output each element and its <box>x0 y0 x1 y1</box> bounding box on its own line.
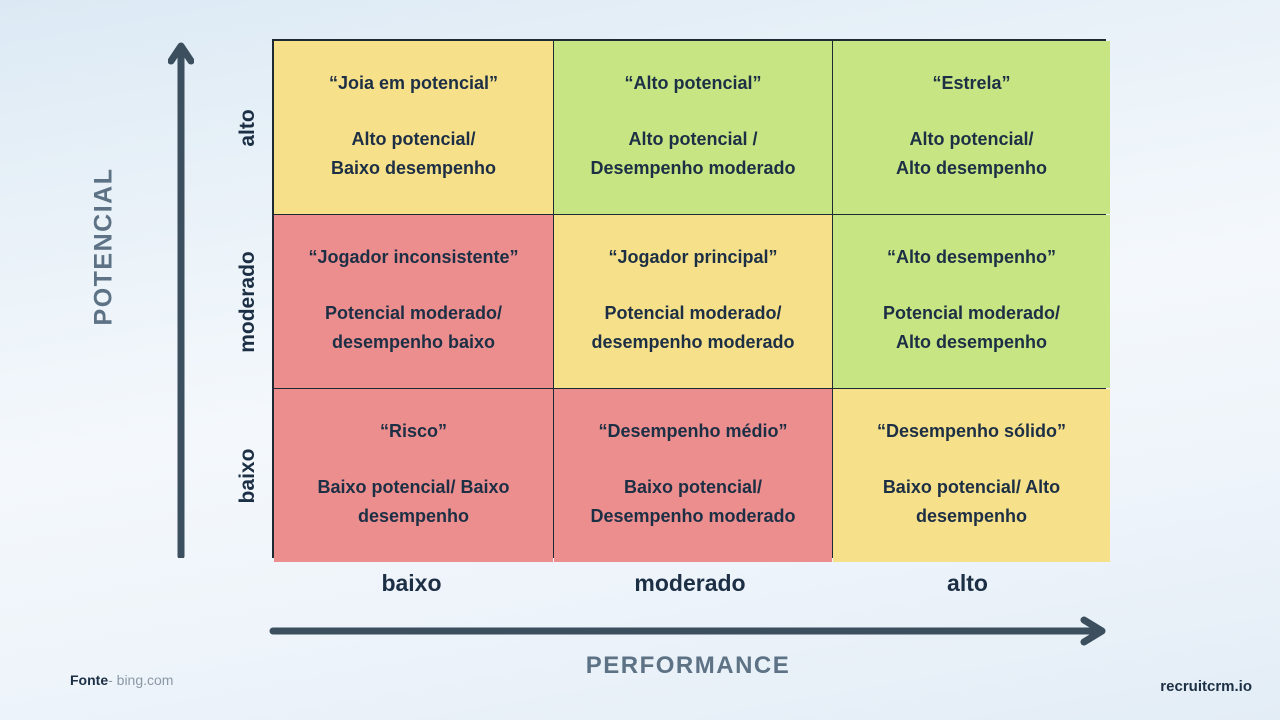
cell-estrela[interactable]: “Estrela” Alto potencial/ Alto desempenh… <box>833 41 1110 214</box>
cell-subtitle: Alto potencial/ Alto desempenho <box>896 125 1047 183</box>
x-axis-title: PERFORMANCE <box>268 652 1108 680</box>
y-tick-alto: alto <box>236 48 260 208</box>
cell-title: “Jogador principal” <box>608 246 777 269</box>
x-tick-baixo: baixo <box>272 570 551 597</box>
cell-subtitle: Baixo potencial/ Alto desempenho <box>883 473 1060 531</box>
cell-alto-desempenho[interactable]: “Alto desempenho” Potencial moderado/ Al… <box>833 215 1110 388</box>
cell-desempenho-solido[interactable]: “Desempenho sólido” Baixo potencial/ Alt… <box>833 389 1110 562</box>
cell-title: “Jogador inconsistente” <box>308 246 518 269</box>
source-note: Fonte- bing.com <box>70 672 173 688</box>
cell-subtitle: Potencial moderado/ desempenho moderado <box>591 299 794 357</box>
nine-box-grid: “Joia em potencial” Alto potencial/ Baix… <box>272 39 1106 558</box>
cell-title: “Desempenho médio” <box>598 420 787 443</box>
cell-title: “Joia em potencial” <box>329 72 498 95</box>
source-label: Fonte <box>70 672 108 688</box>
cell-subtitle: Potencial moderado/ desempenho baixo <box>325 299 502 357</box>
cell-subtitle: Baixo potencial/ Baixo desempenho <box>317 473 509 531</box>
brand-watermark: recruitcrm.io <box>1160 678 1252 695</box>
performance-axis-arrow <box>268 612 1108 650</box>
cell-subtitle: Alto potencial/ Baixo desempenho <box>331 125 496 183</box>
cell-joia-em-potencial[interactable]: “Joia em potencial” Alto potencial/ Baix… <box>274 41 553 214</box>
cell-title: “Risco” <box>380 420 447 443</box>
x-tick-alto: alto <box>829 570 1106 597</box>
cell-subtitle: Baixo potencial/ Desempenho moderado <box>590 473 795 531</box>
slide-canvas: POTENCIAL alto moderado baixo “Joia em p… <box>0 0 1280 720</box>
source-value: - bing.com <box>108 672 173 688</box>
potential-axis-arrow <box>168 38 194 558</box>
cell-title: “Desempenho sólido” <box>877 420 1066 443</box>
cell-alto-potencial[interactable]: “Alto potencial” Alto potencial / Desemp… <box>554 41 832 214</box>
cell-jogador-principal[interactable]: “Jogador principal” Potencial moderado/ … <box>554 215 832 388</box>
cell-risco[interactable]: “Risco” Baixo potencial/ Baixo desempenh… <box>274 389 553 562</box>
cell-jogador-inconsistente[interactable]: “Jogador inconsistente” Potencial modera… <box>274 215 553 388</box>
x-axis-ticks: baixo moderado alto <box>272 570 1106 597</box>
cell-title: “Estrela” <box>932 72 1010 95</box>
cell-desempenho-medio[interactable]: “Desempenho médio” Baixo potencial/ Dese… <box>554 389 832 562</box>
cell-subtitle: Potencial moderado/ Alto desempenho <box>883 299 1060 357</box>
cell-title: “Alto desempenho” <box>887 246 1056 269</box>
cell-title: “Alto potencial” <box>624 72 761 95</box>
y-axis-title: POTENCIAL <box>90 137 119 357</box>
y-tick-moderado: moderado <box>236 222 260 382</box>
y-tick-baixo: baixo <box>236 396 260 556</box>
x-tick-moderado: moderado <box>551 570 829 597</box>
cell-subtitle: Alto potencial / Desempenho moderado <box>590 125 795 183</box>
